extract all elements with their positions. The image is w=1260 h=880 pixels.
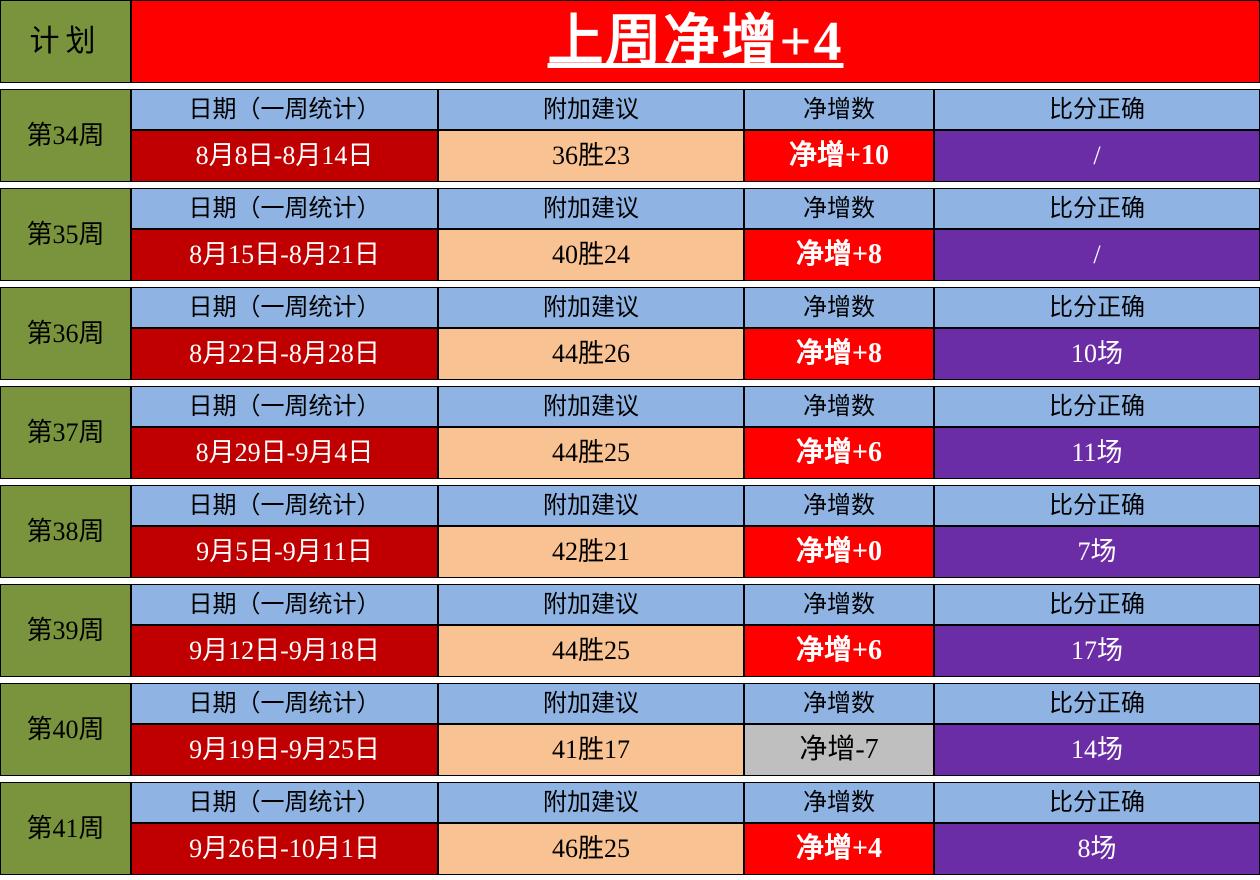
cell-score: 7场 [934, 526, 1260, 578]
column-header-date-text: 日期（一周统计） [189, 593, 381, 617]
week-label-text: 第34周 [26, 123, 104, 149]
cell-extra-text: 44胜25 [552, 638, 630, 664]
week-label-text: 第36周 [26, 321, 104, 347]
column-header-net: 净增数 [744, 89, 934, 130]
cell-date: 8月8日-8月14日 [131, 130, 438, 182]
week-label-text: 第39周 [26, 618, 104, 644]
cell-score-text: 11场 [1071, 440, 1122, 466]
column-header-score: 比分正确 [934, 683, 1260, 724]
column-header-score: 比分正确 [934, 485, 1260, 526]
cell-score-text: 17场 [1071, 638, 1123, 664]
cell-score: / [934, 229, 1260, 281]
column-header-score-text: 比分正确 [1049, 197, 1145, 221]
column-header-extra: 附加建议 [438, 386, 744, 427]
cell-net-text: 净增+10 [789, 142, 889, 170]
cell-net: 净增+6 [744, 625, 934, 677]
column-header-score: 比分正确 [934, 386, 1260, 427]
cell-date: 9月26日-10月1日 [131, 823, 438, 875]
cell-extra: 44胜26 [438, 328, 744, 380]
column-header-extra-text: 附加建议 [543, 494, 639, 518]
cell-net-text: 净增+8 [796, 340, 882, 368]
column-header-extra-text: 附加建议 [543, 296, 639, 320]
column-header-score-text: 比分正确 [1049, 98, 1145, 122]
column-header-net: 净增数 [744, 386, 934, 427]
cell-date-text: 8月22日-8月28日 [189, 341, 380, 367]
week-label-text: 第35周 [26, 222, 104, 248]
cell-date-text: 8月15日-8月21日 [189, 242, 380, 268]
cell-date-text: 8月29日-9月4日 [196, 440, 374, 466]
cell-score: 10场 [934, 328, 1260, 380]
banner-title-text: 上周净增+4 [548, 14, 844, 70]
column-header-date: 日期（一周统计） [131, 485, 438, 526]
column-header-extra: 附加建议 [438, 287, 744, 328]
column-header-net-text: 净增数 [803, 593, 875, 617]
column-header-date: 日期（一周统计） [131, 782, 438, 823]
column-header-net-text: 净增数 [803, 791, 875, 815]
cell-extra: 44胜25 [438, 427, 744, 479]
week-label-text: 第40周 [26, 717, 104, 743]
column-header-date-text: 日期（一周统计） [189, 494, 381, 518]
week-label-text: 第41周 [26, 816, 104, 842]
cell-date: 9月12日-9月18日 [131, 625, 438, 677]
column-header-net-text: 净增数 [803, 494, 875, 518]
column-header-score: 比分正确 [934, 287, 1260, 328]
cell-score-text: 8场 [1077, 836, 1116, 862]
column-header-date: 日期（一周统计） [131, 386, 438, 427]
cell-extra-text: 36胜23 [552, 143, 630, 169]
week-label-cell: 第39周 [0, 584, 131, 677]
cell-net-text: 净增+8 [796, 241, 882, 269]
cell-score-text: 14场 [1071, 737, 1123, 763]
cell-extra-text: 40胜24 [552, 242, 630, 268]
cell-date-text: 8月8日-8月14日 [196, 143, 374, 169]
column-header-net-text: 净增数 [803, 197, 875, 221]
banner-title-cell: 上周净增+4 [131, 0, 1260, 83]
week-label-text: 第38周 [26, 519, 104, 545]
column-header-net-text: 净增数 [803, 395, 875, 419]
cell-score-text: / [1093, 143, 1100, 169]
column-header-extra: 附加建议 [438, 89, 744, 130]
column-header-net-text: 净增数 [803, 296, 875, 320]
week-label-cell: 第35周 [0, 188, 131, 281]
column-header-score-text: 比分正确 [1049, 692, 1145, 716]
cell-date: 9月19日-9月25日 [131, 724, 438, 776]
column-header-score-text: 比分正确 [1049, 791, 1145, 815]
week-label-cell: 第41周 [0, 782, 131, 875]
column-header-score: 比分正确 [934, 188, 1260, 229]
column-header-date-text: 日期（一周统计） [189, 296, 381, 320]
column-header-score: 比分正确 [934, 89, 1260, 130]
column-header-net: 净增数 [744, 584, 934, 625]
cell-extra-text: 44胜25 [552, 440, 630, 466]
cell-extra-text: 41胜17 [552, 737, 630, 763]
cell-date: 9月5日-9月11日 [131, 526, 438, 578]
cell-date: 8月22日-8月28日 [131, 328, 438, 380]
cell-net-text: 净增+0 [796, 538, 882, 566]
plan-label-cell: 计划 [0, 0, 131, 83]
column-header-extra-text: 附加建议 [543, 692, 639, 716]
cell-date-text: 9月5日-9月11日 [196, 539, 373, 565]
cell-score: 8场 [934, 823, 1260, 875]
cell-score: 17场 [934, 625, 1260, 677]
column-header-date: 日期（一周统计） [131, 287, 438, 328]
cell-extra: 46胜25 [438, 823, 744, 875]
week-label-cell: 第37周 [0, 386, 131, 479]
cell-net: 净增-7 [744, 724, 934, 776]
column-header-date: 日期（一周统计） [131, 584, 438, 625]
column-header-score: 比分正确 [934, 584, 1260, 625]
column-header-score-text: 比分正确 [1049, 395, 1145, 419]
column-header-score-text: 比分正确 [1049, 593, 1145, 617]
cell-extra-text: 44胜26 [552, 341, 630, 367]
column-header-score: 比分正确 [934, 782, 1260, 823]
column-header-score-text: 比分正确 [1049, 494, 1145, 518]
cell-score: / [934, 130, 1260, 182]
cell-date: 8月29日-9月4日 [131, 427, 438, 479]
column-header-net: 净增数 [744, 188, 934, 229]
cell-net: 净增+8 [744, 328, 934, 380]
cell-net-text: 净增+4 [796, 835, 882, 863]
column-header-net-text: 净增数 [803, 98, 875, 122]
cell-net-text: 净增+6 [796, 637, 882, 665]
column-header-extra: 附加建议 [438, 782, 744, 823]
column-header-net: 净增数 [744, 287, 934, 328]
cell-score-text: 7场 [1077, 539, 1116, 565]
cell-score-text: 10场 [1071, 341, 1123, 367]
column-header-extra: 附加建议 [438, 485, 744, 526]
column-header-extra-text: 附加建议 [543, 791, 639, 815]
cell-net-text: 净增-7 [799, 736, 878, 764]
cell-net: 净增+8 [744, 229, 934, 281]
week-label-cell: 第40周 [0, 683, 131, 776]
plan-label-text: 计划 [30, 27, 102, 57]
cell-date-text: 9月26日-10月1日 [189, 836, 380, 862]
column-header-extra: 附加建议 [438, 683, 744, 724]
column-header-date-text: 日期（一周统计） [189, 791, 381, 815]
column-header-extra-text: 附加建议 [543, 593, 639, 617]
cell-score: 11场 [934, 427, 1260, 479]
week-label-text: 第37周 [26, 420, 104, 446]
column-header-date-text: 日期（一周统计） [189, 692, 381, 716]
cell-extra-text: 46胜25 [552, 836, 630, 862]
column-header-net: 净增数 [744, 683, 934, 724]
week-label-cell: 第38周 [0, 485, 131, 578]
column-header-date-text: 日期（一周统计） [189, 197, 381, 221]
column-header-extra-text: 附加建议 [543, 197, 639, 221]
column-header-extra: 附加建议 [438, 188, 744, 229]
cell-extra: 40胜24 [438, 229, 744, 281]
column-header-date-text: 日期（一周统计） [189, 98, 381, 122]
cell-date-text: 9月12日-9月18日 [189, 638, 380, 664]
cell-extra: 41胜17 [438, 724, 744, 776]
week-label-cell: 第34周 [0, 89, 131, 182]
column-header-extra-text: 附加建议 [543, 395, 639, 419]
cell-score: 14场 [934, 724, 1260, 776]
cell-net: 净增+0 [744, 526, 934, 578]
column-header-net-text: 净增数 [803, 692, 875, 716]
cell-net-text: 净增+6 [796, 439, 882, 467]
cell-extra-text: 42胜21 [552, 539, 630, 565]
week-label-cell: 第36周 [0, 287, 131, 380]
column-header-extra-text: 附加建议 [543, 98, 639, 122]
column-header-net: 净增数 [744, 782, 934, 823]
column-header-score-text: 比分正确 [1049, 296, 1145, 320]
cell-extra: 36胜23 [438, 130, 744, 182]
column-header-date-text: 日期（一周统计） [189, 395, 381, 419]
spreadsheet-table: 计划 上周净增+4 第34周日期（一周统计）附加建议净增数比分正确8月8日-8月… [0, 0, 1260, 880]
column-header-extra: 附加建议 [438, 584, 744, 625]
cell-date: 8月15日-8月21日 [131, 229, 438, 281]
column-header-date: 日期（一周统计） [131, 188, 438, 229]
column-header-date: 日期（一周统计） [131, 89, 438, 130]
cell-date-text: 9月19日-9月25日 [189, 737, 380, 763]
cell-score-text: / [1093, 242, 1100, 268]
cell-net: 净增+6 [744, 427, 934, 479]
cell-extra: 44胜25 [438, 625, 744, 677]
cell-extra: 42胜21 [438, 526, 744, 578]
cell-net: 净增+4 [744, 823, 934, 875]
cell-net: 净增+10 [744, 130, 934, 182]
column-header-date: 日期（一周统计） [131, 683, 438, 724]
column-header-net: 净增数 [744, 485, 934, 526]
